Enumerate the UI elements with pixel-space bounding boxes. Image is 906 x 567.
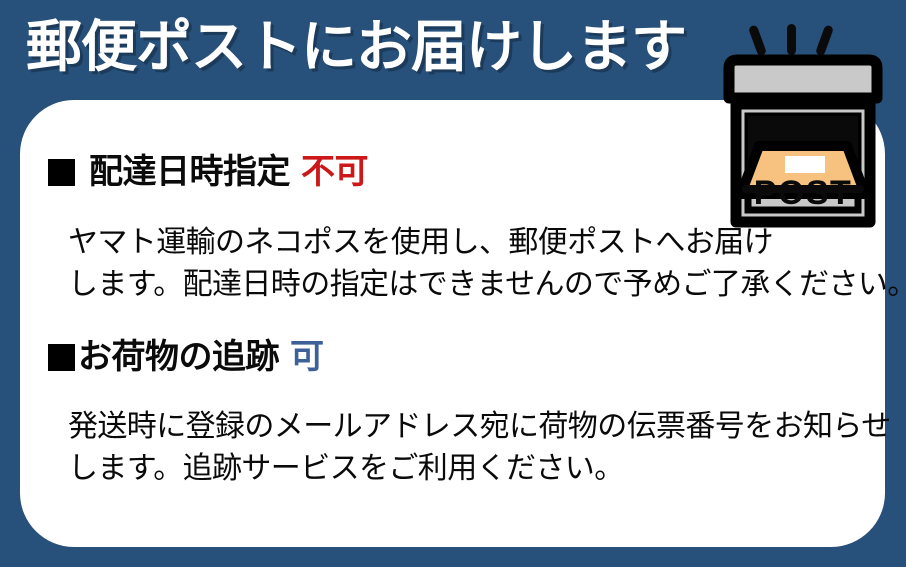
section-heading: お荷物の追跡 可 — [48, 340, 324, 374]
mailbox-post-label: POST — [754, 174, 853, 212]
body-line: します。追跡サービスをご利用ください。 — [68, 448, 891, 490]
banner-title: 郵便ポストにお届けします — [26, 18, 686, 77]
status-badge-available: 可 — [290, 340, 324, 374]
section-body-delivery-datetime: ヤマト運輸のネコポスを使用し、郵便ポストへお届け します。配達日時の指定はできま… — [68, 222, 906, 306]
body-line: します。配達日時の指定はできませんので予めご了承ください。 — [68, 264, 906, 306]
section-heading-label: お荷物の追跡 — [78, 340, 279, 374]
status-badge-unavailable: 不可 — [301, 155, 368, 189]
sparkle-icon — [748, 24, 834, 57]
mailbox-icon: POST — [714, 22, 892, 234]
section-heading: 配達日時指定 不可 — [48, 155, 368, 189]
section-body-package-tracking: 発送時に登録のメールアドレス宛に荷物の伝票番号をお知らせ します。追跡サービスを… — [68, 406, 891, 490]
mailbox-lid — [729, 60, 877, 98]
filled-square-icon — [48, 159, 75, 186]
body-line: 発送時に登録のメールアドレス宛に荷物の伝票番号をお知らせ — [68, 406, 891, 448]
section-delivery-datetime: 配達日時指定 不可 — [48, 155, 368, 189]
section-package-tracking: お荷物の追跡 可 — [48, 340, 324, 374]
poster-root: 郵便ポストにお届けします 配達日時指定 不可 ヤマト運輸のネコポスを使用し、郵便… — [0, 0, 906, 567]
section-heading-label: 配達日時指定 — [89, 155, 290, 189]
filled-square-icon — [48, 344, 75, 371]
